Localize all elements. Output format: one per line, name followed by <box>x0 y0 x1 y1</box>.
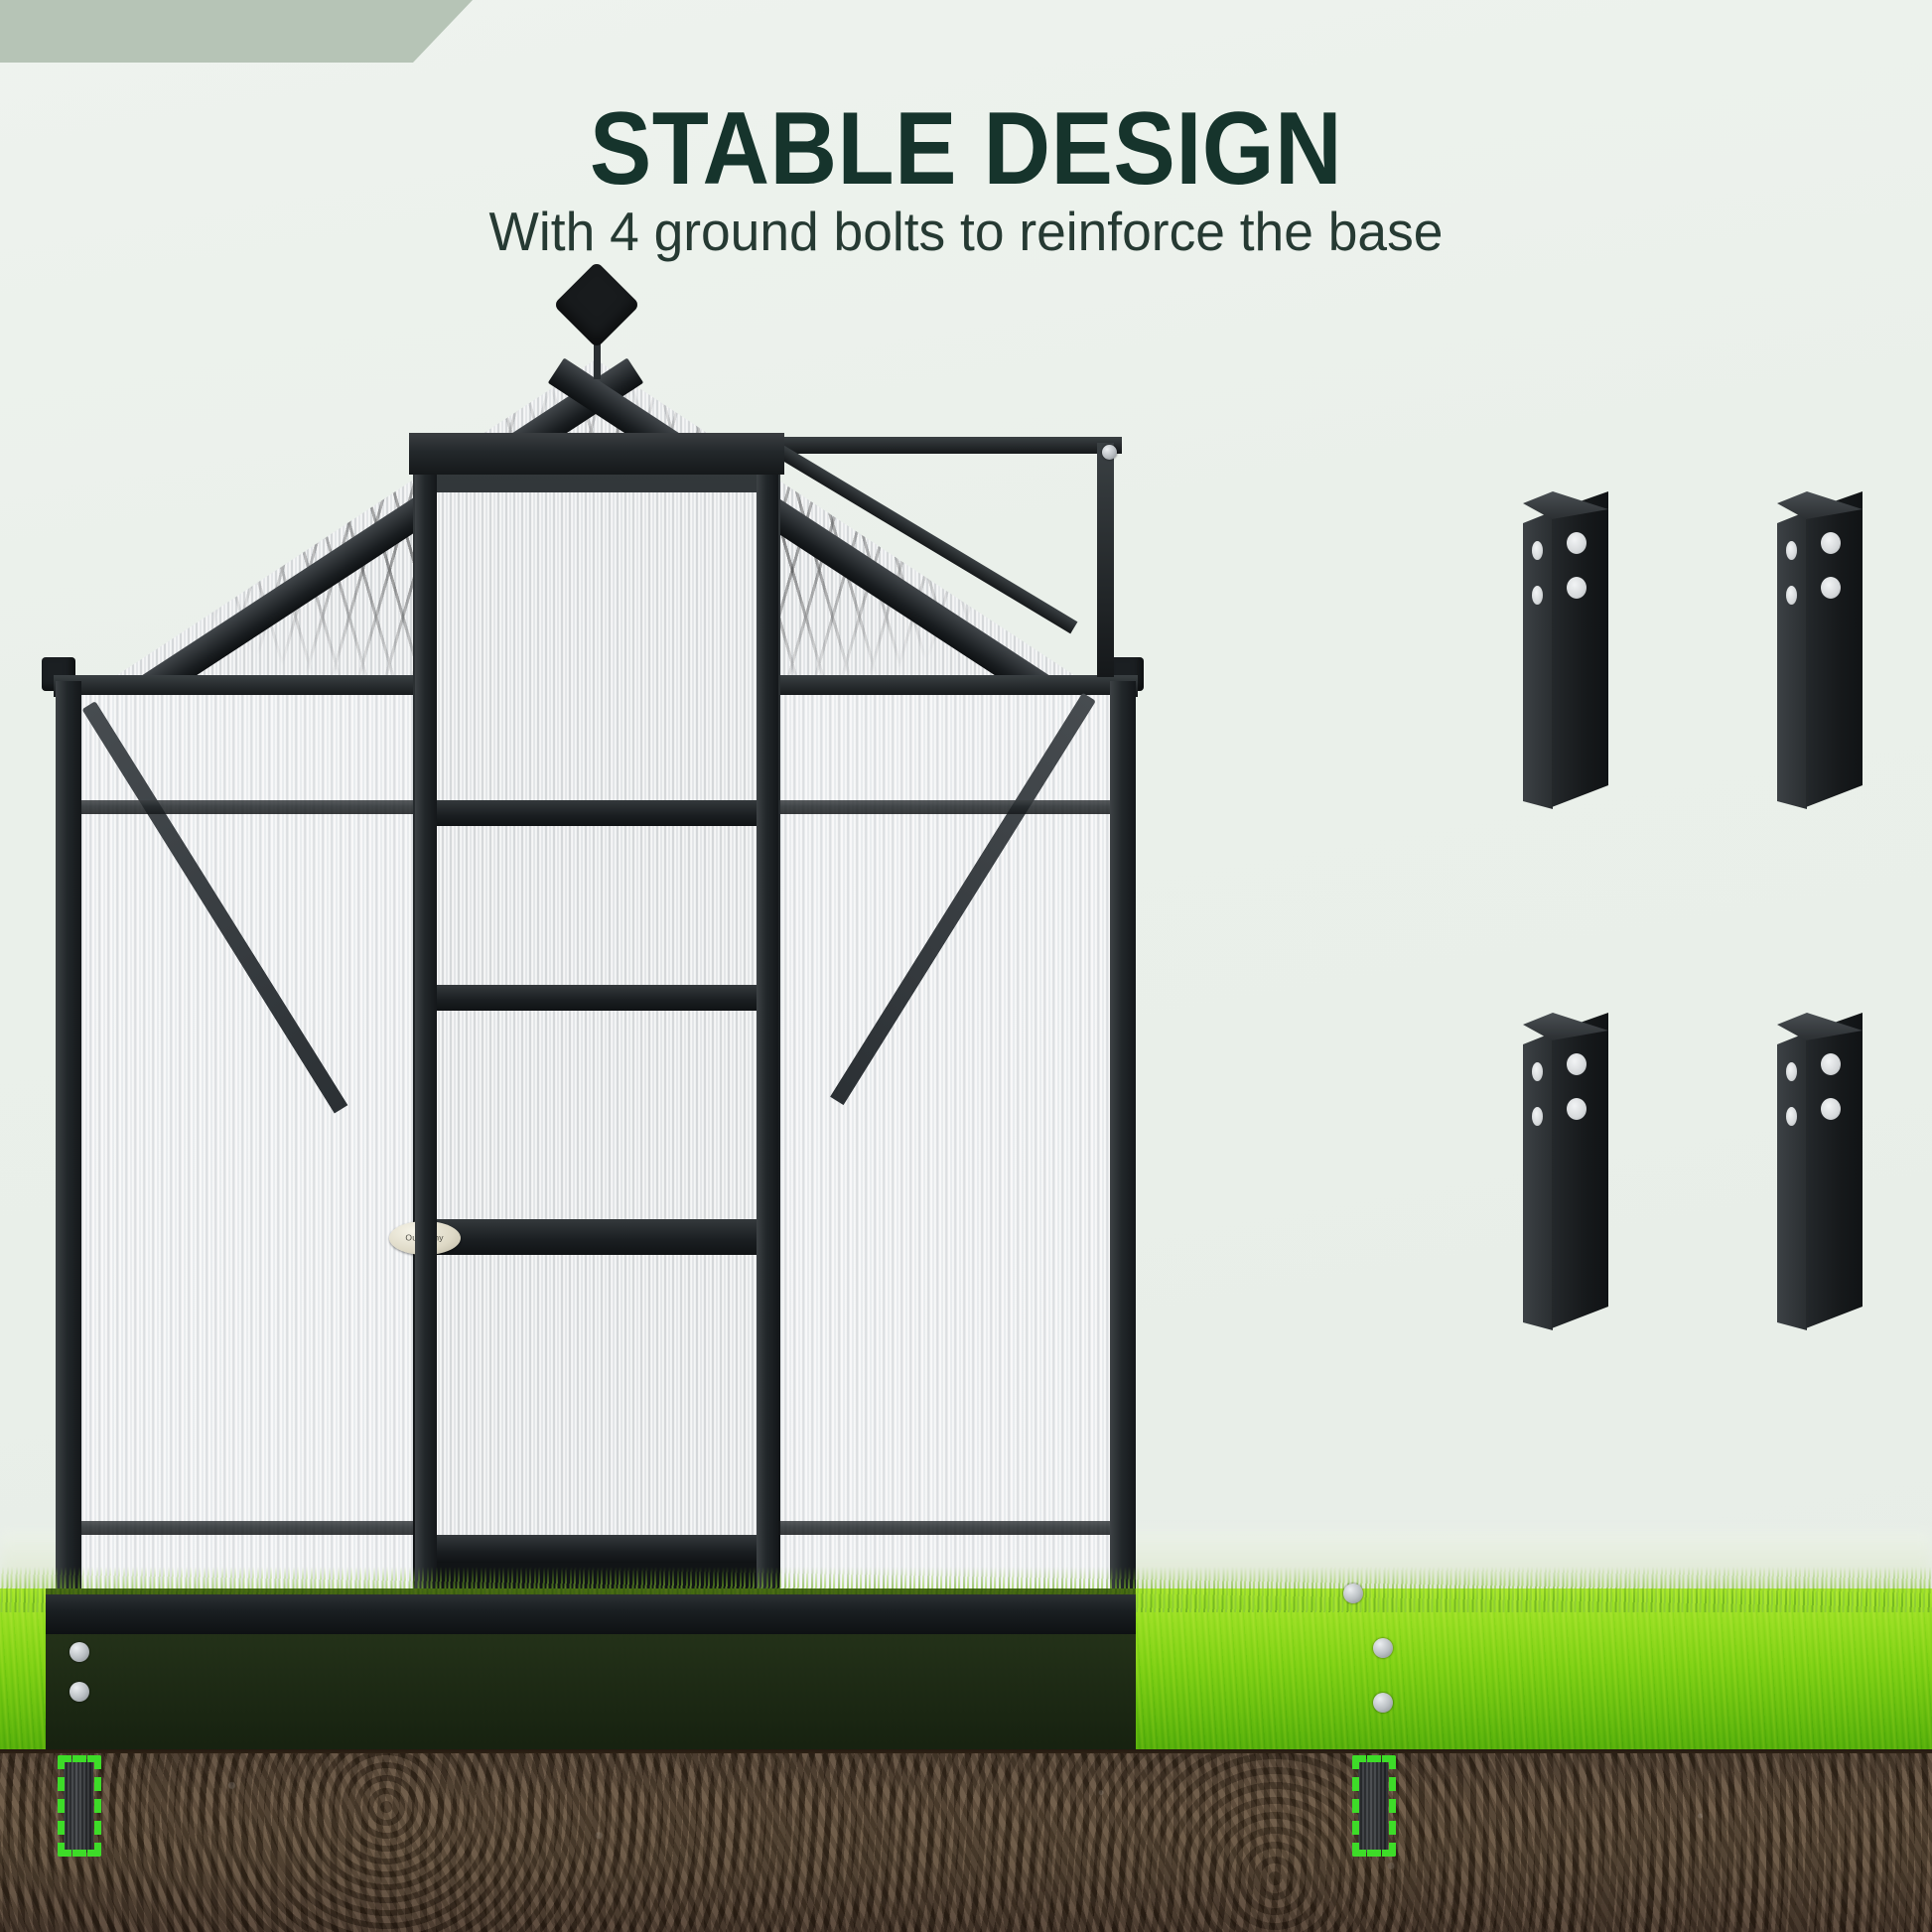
anchor-bolt-head-right-1 <box>1343 1584 1363 1603</box>
ground-bolt-hole-1 <box>1786 541 1797 560</box>
side-wall-panel-left <box>62 695 417 1588</box>
door-rail-bottom <box>417 1535 776 1563</box>
anchor-bolt-head-left-1 <box>69 1642 89 1662</box>
page-subtitle: With 4 ground bolts to reinforce the bas… <box>29 202 1903 262</box>
soil-cross-section <box>0 1753 1932 1932</box>
ground-bolt-hole-4 <box>1821 577 1841 599</box>
page-title: STABLE DESIGN <box>96 95 1835 204</box>
door-panel-mid-2 <box>433 1011 760 1219</box>
ground-bolt-hole-3 <box>1786 1107 1797 1126</box>
door-stile-left <box>415 439 437 1602</box>
ground-bolt-hole-3 <box>1532 1107 1543 1126</box>
anchor-bolt-head-right-3 <box>1373 1693 1393 1713</box>
ground-bolt-hole-2 <box>1821 532 1841 554</box>
marketing-image-canvas: STABLE DESIGN With 4 ground bolts to rei… <box>0 0 1932 1932</box>
door-rail-1 <box>417 800 776 826</box>
eave-gutter-extension <box>774 437 1122 454</box>
door-stile-right <box>757 439 778 1602</box>
door-panel-upper <box>433 492 760 800</box>
door-rail-handle[interactable] <box>417 1219 776 1255</box>
ground-bolt-1 <box>1523 491 1608 809</box>
ground-bolt-3 <box>1523 1013 1608 1330</box>
ground-bolt-hole-3 <box>1532 586 1543 605</box>
door-header-beam <box>409 433 784 475</box>
wall-rail-mid-left <box>62 800 417 814</box>
ground-bolt-hole-4 <box>1567 1098 1587 1120</box>
anchor-bolt-head-right-2 <box>1373 1638 1393 1658</box>
door-panel-mid <box>433 826 760 985</box>
side-wall-panel-right <box>774 695 1130 1588</box>
greenhouse-product: Outsunny <box>40 268 1152 1668</box>
wall-rail-lower-right <box>774 1521 1130 1535</box>
wall-post-far-left <box>56 681 81 1594</box>
anchor-bolt-head-left-2 <box>69 1682 89 1702</box>
wall-post-far-right <box>1110 681 1136 1594</box>
eave-gutter-post <box>1097 443 1114 677</box>
wall-rail-lower-left <box>62 1521 417 1535</box>
door-rail-2 <box>417 985 776 1011</box>
buried-anchor-left-highlight <box>58 1755 101 1857</box>
ground-bolt-hole-2 <box>1821 1053 1841 1075</box>
buried-anchor-right-highlight <box>1352 1755 1396 1857</box>
eave-gutter-bolt-head <box>1102 445 1117 460</box>
ground-bolt-hole-1 <box>1786 1062 1797 1081</box>
ground-bolt-hole-3 <box>1786 586 1797 605</box>
ground-bolt-hole-2 <box>1567 1053 1587 1075</box>
roof-apex-cap <box>553 261 640 348</box>
ground-bolt-hole-4 <box>1567 577 1587 599</box>
ground-bolt-hole-1 <box>1532 541 1543 560</box>
ground-bolt-2 <box>1777 491 1863 809</box>
ground-bolt-hole-2 <box>1567 532 1587 554</box>
base-rail-sunken <box>46 1630 1136 1753</box>
ground-bolt-hole-1 <box>1532 1062 1543 1081</box>
ground-bolt-hole-4 <box>1821 1098 1841 1120</box>
wall-rail-mid-right <box>774 800 1130 814</box>
ground-bolt-4 <box>1777 1013 1863 1330</box>
base-rail-ground-line <box>46 1594 1136 1634</box>
door-panel-lower <box>433 1255 760 1535</box>
corner-accent-band <box>0 0 473 63</box>
